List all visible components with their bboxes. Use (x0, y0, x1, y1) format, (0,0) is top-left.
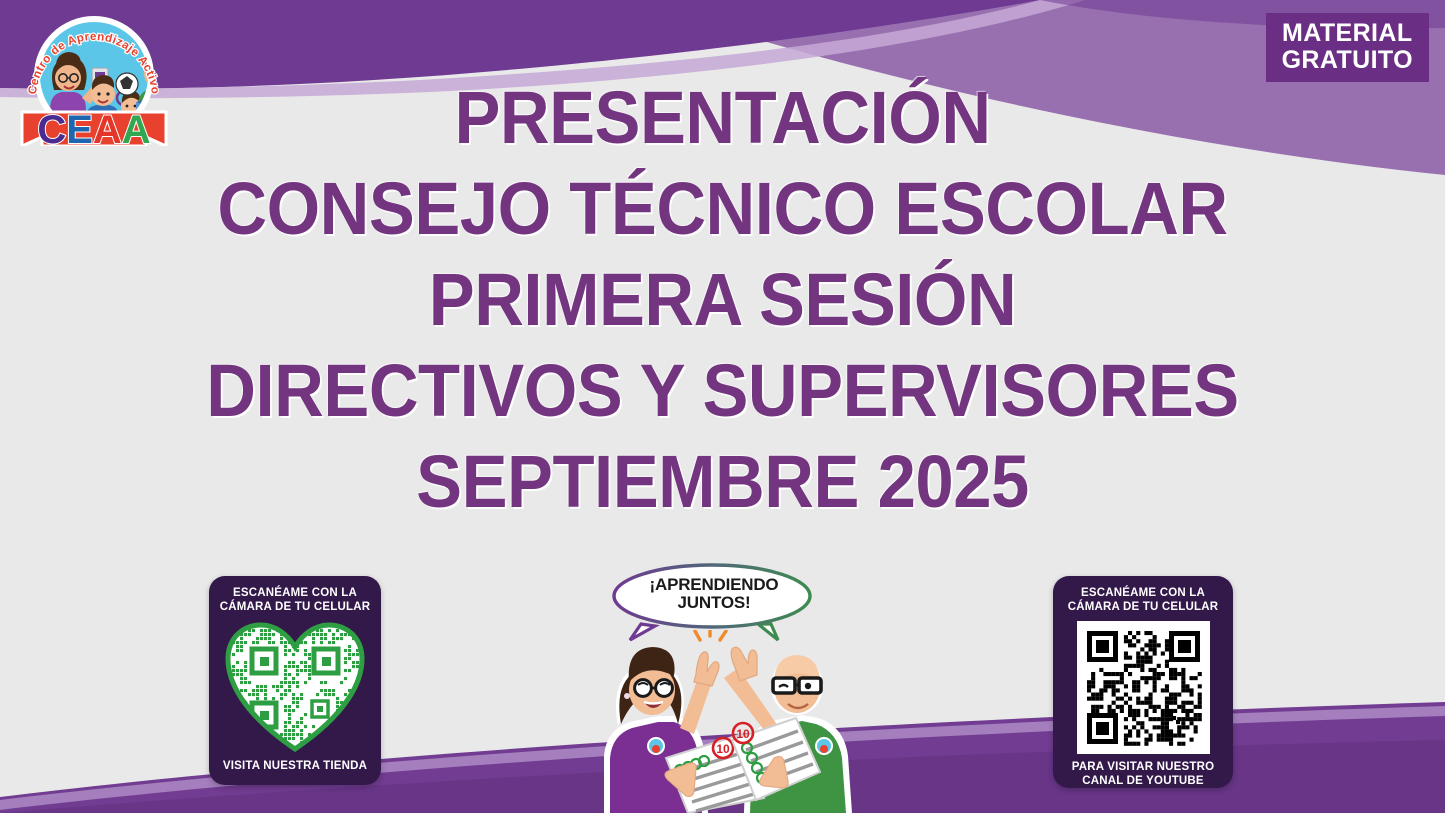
title-line-2: CONSEJO TÉCNICO ESCOLAR (51, 163, 1395, 254)
qr-left-caption-top-line-2: CÁMARA DE TU CELULAR (215, 600, 375, 614)
teachers-graphic: 10 10 (596, 630, 858, 813)
qr-right-caption-bottom-line-2: CANAL DE YOUTUBE (1059, 774, 1227, 788)
qr-right-caption-top-line-1: ESCANÉAME CON LA (1059, 586, 1227, 600)
qr-left-caption-top-line-1: ESCANÉAME CON LA (215, 586, 375, 600)
qr-card-tienda[interactable]: ESCANÉAME CON LA CÁMARA DE TU CELULAR (209, 576, 381, 785)
title-line-3: PRIMERA SESIÓN (51, 254, 1395, 345)
badge-line-1: MATERIAL (1282, 20, 1413, 47)
heart-qr-code-icon[interactable] (224, 621, 366, 753)
material-gratuito-badge: MATERIAL GRATUITO (1266, 13, 1429, 82)
qr-right-holder[interactable] (1053, 615, 1233, 760)
qr-right-caption-bottom-line-1: PARA VISITAR NUESTRO (1059, 760, 1227, 774)
qr-left-holder[interactable] (209, 615, 381, 759)
square-qr-code-icon[interactable] (1077, 621, 1210, 754)
title-line-1: PRESENTACIÓN (51, 72, 1395, 163)
qr-right-caption-bottom: PARA VISITAR NUESTRO CANAL DE YOUTUBE (1053, 760, 1233, 798)
qr-right-caption-top: ESCANÉAME CON LA CÁMARA DE TU CELULAR (1053, 576, 1233, 615)
qr-left-caption-top: ESCANÉAME CON LA CÁMARA DE TU CELULAR (209, 576, 381, 615)
qr-right-caption-top-line-2: CÁMARA DE TU CELULAR (1059, 600, 1227, 614)
grade-value-left: 10 (716, 742, 730, 756)
qr-card-youtube[interactable]: ESCANÉAME CON LA CÁMARA DE TU CELULAR PA… (1053, 576, 1233, 788)
logo-banner-text: CEAA (37, 108, 150, 146)
speech-bubble-shape (608, 562, 820, 642)
qr-left-caption-bottom: VISITA NUESTRA TIENDA (209, 759, 381, 782)
qr-left-caption-bottom-line-1: VISITA NUESTRA TIENDA (215, 759, 375, 773)
title-line-4: DIRECTIVOS Y SUPERVISORES (51, 345, 1395, 436)
teachers-illustration: 10 10 (596, 630, 858, 813)
slide-root: Centro de Aprendizaje Activo CEAA MATERI… (0, 0, 1445, 813)
aprendiendo-juntos-bubble: ¡APRENDIENDO JUNTOS! (608, 562, 820, 642)
grade-value-right: 10 (736, 727, 750, 741)
ceaa-logo[interactable]: Centro de Aprendizaje Activo CEAA (14, 6, 174, 146)
title-line-5: SEPTIEMBRE 2025 (51, 436, 1395, 527)
badge-line-2: GRATUITO (1282, 47, 1413, 74)
page-title: PRESENTACIÓN CONSEJO TÉCNICO ESCOLAR PRI… (51, 72, 1395, 527)
ceaa-logo-graphic: Centro de Aprendizaje Activo CEAA (14, 6, 174, 146)
